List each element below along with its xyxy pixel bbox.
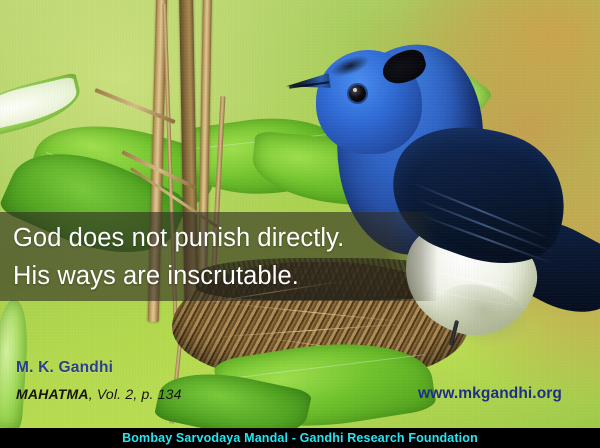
- quote-source-citation: , Vol. 2, p. 134: [89, 386, 182, 402]
- footer-credit: Bombay Sarvodaya Mandal - Gandhi Researc…: [0, 428, 600, 448]
- quote-line-1: God does not punish directly.: [13, 219, 438, 257]
- quote-line-2: His ways are inscrutable.: [13, 257, 438, 295]
- website-url[interactable]: www.mkgandhi.org: [418, 385, 562, 403]
- bird-eye: [349, 85, 366, 102]
- quote-source-work: MAHATMA: [16, 386, 89, 402]
- quote-source: MAHATMA, Vol. 2, p. 134: [16, 386, 182, 402]
- bird-eye-glint: [353, 88, 357, 92]
- quote-text: God does not punish directly. His ways a…: [0, 212, 438, 301]
- quote-card: God does not punish directly. His ways a…: [0, 0, 600, 448]
- quote-author: M. K. Gandhi: [16, 359, 113, 377]
